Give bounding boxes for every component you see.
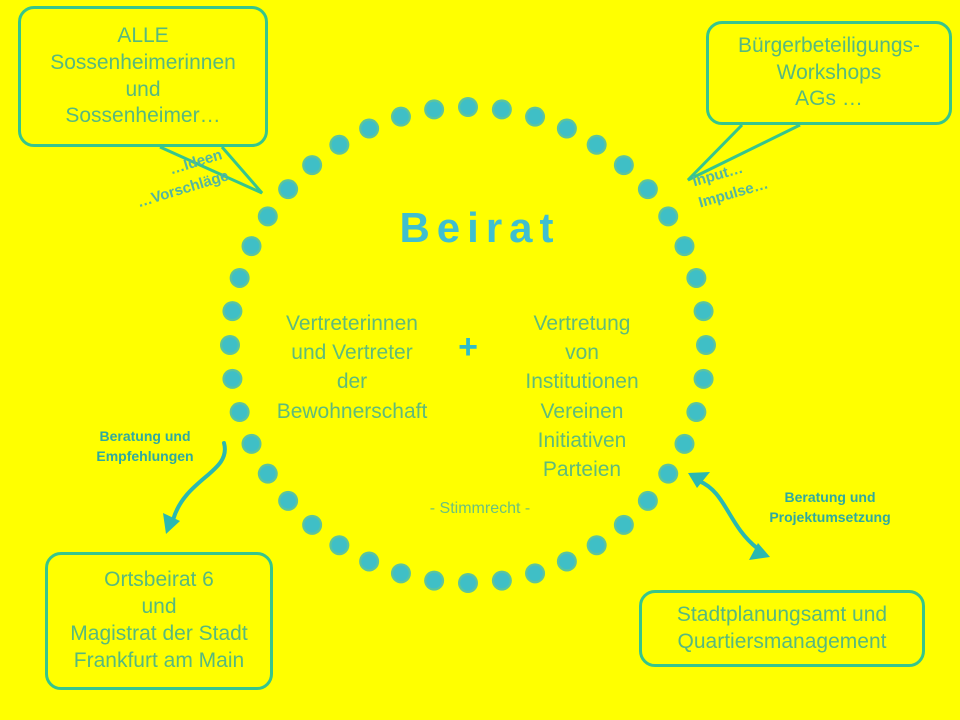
center-column-vertreterinnen: Vertreterinnen und Vertreter der Bewohne…	[262, 309, 442, 426]
circle-dot-ring	[220, 335, 240, 355]
circle-dot	[494, 573, 510, 589]
circle-dot	[361, 554, 377, 570]
center-title-beirat: Beirat	[0, 204, 960, 252]
circle-dot	[589, 537, 605, 553]
circle-dot	[393, 109, 409, 125]
box-line: Stadtplanungsamt und	[677, 602, 887, 629]
circle-dot	[559, 554, 575, 570]
label-line: Beratung und	[75, 427, 215, 447]
circle-dot	[460, 99, 476, 115]
bubble-buergerbeteiligungs-workshops[interactable]: Bürgerbeteiligungs- Workshops AGs …	[706, 21, 952, 125]
circle-dot	[640, 181, 656, 197]
circle-dot	[527, 566, 543, 582]
column-line: der	[262, 367, 442, 396]
circle-dot-ring	[686, 402, 706, 422]
circle-dot	[304, 157, 320, 173]
arrow-head-up-right	[688, 472, 710, 488]
circle-dot-ring	[424, 99, 444, 119]
circle-dot-ring	[359, 551, 379, 571]
circle-dot	[225, 303, 241, 319]
circle-dot-ring	[329, 135, 349, 155]
column-line: Institutionen	[494, 367, 670, 396]
box-ortsbeirat-magistrat[interactable]: Ortsbeirat 6 und Magistrat der Stadt Fra…	[45, 552, 273, 690]
circle-dot-ring	[242, 434, 262, 454]
circle-dot	[332, 137, 348, 153]
circle-dot-ring	[614, 155, 634, 175]
circle-dot-ring	[458, 573, 478, 593]
label-line: Projektumsetzung	[745, 508, 915, 528]
circle-dot	[393, 566, 409, 582]
circle-dot-ring	[525, 107, 545, 127]
circle-dot	[559, 121, 575, 137]
circle-dot	[689, 404, 705, 420]
column-line: Vereinen	[494, 397, 670, 426]
circle-dot-ring	[587, 535, 607, 555]
circle-dot-ring	[222, 301, 242, 321]
circle-dot	[426, 573, 442, 589]
box-line: Magistrat der Stadt	[70, 621, 247, 648]
circle-dot	[696, 303, 712, 319]
column-line: Vertretung	[494, 309, 670, 338]
box-line: Quartiersmanagement	[678, 629, 887, 656]
circle-dot	[527, 109, 543, 125]
circle-dot	[616, 517, 632, 533]
circle-dot-ring	[587, 135, 607, 155]
circle-dot-ring	[302, 155, 322, 175]
label-beratung-projektumsetzung: Beratung und Projektumsetzung	[745, 488, 915, 527]
circle-dot-ring	[222, 369, 242, 389]
center-column-vertretung: Vertretung von Institutionen Vereinen In…	[494, 309, 670, 484]
circle-dot-ring	[696, 335, 716, 355]
circle-dot-ring	[391, 107, 411, 127]
box-line: Ortsbeirat 6	[104, 567, 214, 594]
circle-dot	[332, 537, 348, 553]
box-line: und	[141, 594, 176, 621]
circle-dot-ring	[492, 99, 512, 119]
circle-dot	[304, 517, 320, 533]
circle-dot	[677, 436, 693, 452]
circle-dot	[280, 181, 296, 197]
circle-dot	[426, 102, 442, 118]
circle-dot-ring	[674, 434, 694, 454]
circle-dot-ring	[424, 571, 444, 591]
bubble-line: Sossenheimer…	[65, 103, 220, 130]
circle-dot	[222, 337, 238, 353]
circle-dot	[244, 436, 260, 452]
circle-dot	[494, 102, 510, 118]
box-stadtplanungsamt-quartiersmanagement[interactable]: Stadtplanungsamt und Quartiersmanagement	[639, 590, 925, 667]
circle-dot-ring	[694, 301, 714, 321]
bubble-line: AGs …	[795, 86, 863, 113]
column-line: Parteien	[494, 455, 670, 484]
column-line: Bewohnerschaft	[262, 397, 442, 426]
circle-dot	[589, 137, 605, 153]
label-beratung-empfehlungen: Beratung und Empfehlungen	[75, 427, 215, 466]
circle-dot-ring	[458, 97, 478, 117]
circle-dot	[232, 270, 248, 286]
circle-dot-ring	[686, 268, 706, 288]
circle-dot-ring	[694, 369, 714, 389]
circle-dot-ring	[278, 179, 298, 199]
bubble-line: ALLE	[117, 23, 168, 50]
box-line: Frankfurt am Main	[74, 648, 244, 675]
column-line: Initiativen	[494, 426, 670, 455]
label-line: Beratung und	[745, 488, 915, 508]
circle-dot	[698, 337, 714, 353]
bubble-line: und	[125, 77, 160, 104]
arrow-head-down-right	[749, 543, 770, 560]
bubble-line: Sossenheimerinnen	[50, 50, 236, 77]
circle-dot-ring	[557, 119, 577, 139]
circle-dot	[232, 404, 248, 420]
circle-dot-ring	[329, 535, 349, 555]
circle-dot-ring	[492, 571, 512, 591]
circle-dot-ring	[230, 402, 250, 422]
label-line: Empfehlungen	[75, 447, 215, 467]
circle-dot	[689, 270, 705, 286]
circle-dot-ring	[391, 563, 411, 583]
circle-dot	[616, 157, 632, 173]
circle-dot	[361, 121, 377, 137]
column-line: Vertreterinnen	[262, 309, 442, 338]
bubble-alle-sossenheimer[interactable]: ALLE Sossenheimerinnen und Sossenheimer…	[18, 6, 268, 147]
circle-dot-ring	[258, 464, 278, 484]
circle-dot-ring	[359, 119, 379, 139]
circle-dot-ring	[557, 551, 577, 571]
bubble-line: Workshops	[777, 60, 882, 87]
circle-dot	[225, 371, 241, 387]
circle-dot-ring	[638, 179, 658, 199]
circle-dot-ring	[525, 563, 545, 583]
column-line: von	[494, 338, 670, 367]
column-line: und Vertreter	[262, 338, 442, 367]
bubble-line: Bürgerbeteiligungs-	[738, 33, 920, 60]
circle-dot	[696, 371, 712, 387]
circle-dot	[460, 575, 476, 591]
circle-dot-ring	[230, 268, 250, 288]
diagram-canvas: ALLE Sossenheimerinnen und Sossenheimer……	[0, 0, 960, 720]
circle-dot	[260, 466, 276, 482]
plus-icon: +	[442, 330, 494, 364]
